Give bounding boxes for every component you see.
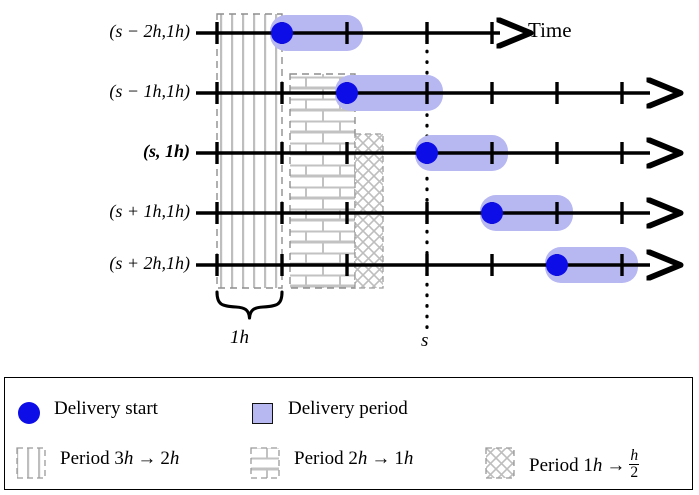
row-label-s: (s, 1h)	[0, 141, 190, 162]
legend-period-1h-h2-label: Period 1h→ h 2	[529, 455, 639, 476]
delivery-start-dot	[336, 82, 358, 104]
bricks-swatch-icon	[250, 447, 280, 479]
row-label-s-minus-1h: (s − 1h,1h)	[0, 81, 190, 102]
delivery-start-dot	[271, 22, 293, 44]
legend-delivery-period: Delivery period	[252, 398, 408, 420]
band-vertical-stripes	[217, 14, 282, 288]
legend-period-2h-1h: Period 2h→1h	[250, 448, 413, 470]
legend-period-1h-h2: Period 1h→ h 2	[485, 448, 639, 482]
legend-period-2h-1h-label: Period 2h→1h	[294, 448, 413, 469]
vertical-stripes-swatch-icon	[16, 447, 46, 479]
crosshatch-swatch-icon	[485, 447, 515, 479]
bracket-label-1h: 1h	[0, 327, 500, 349]
row-label-s-plus-2h: (s + 2h,1h)	[0, 253, 190, 274]
legend-delivery-start-label: Delivery start	[54, 398, 158, 419]
period-bands	[217, 14, 383, 288]
delivery-start-dot	[481, 202, 503, 224]
row-label-s-plus-1h: (s + 1h,1h)	[0, 201, 190, 222]
delivery-start-dot	[416, 142, 438, 164]
lavender-square-icon	[252, 403, 273, 424]
row-label-s-minus-2h: (s − 2h,1h)	[0, 21, 190, 42]
legend-delivery-period-label: Delivery period	[288, 398, 408, 419]
blue-dot-icon	[18, 402, 40, 424]
time-axis-label: Time	[528, 18, 572, 43]
legend-period-3h-2h-label: Period 3h→2h	[60, 448, 179, 469]
delivery-start-dot	[546, 254, 568, 276]
legend-delivery-start: Delivery start	[18, 398, 158, 420]
legend-period-3h-2h: Period 3h→2h	[16, 448, 179, 470]
one-h-bracket	[217, 292, 282, 318]
